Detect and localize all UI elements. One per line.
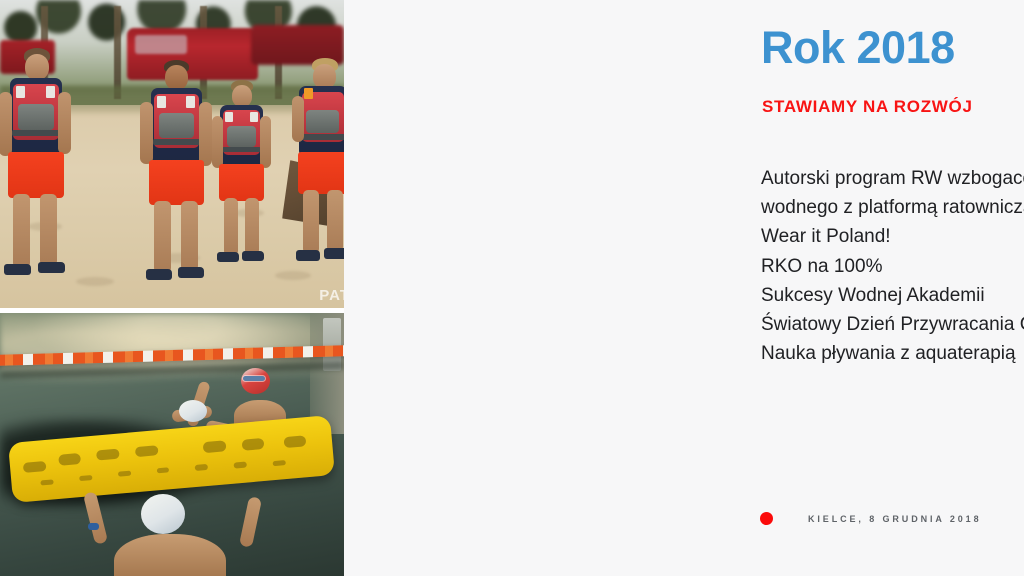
lifeguard-figure [212, 80, 272, 272]
list-item: wodnego z platformą ratowniczą [761, 193, 1024, 222]
sand-texture [76, 277, 114, 286]
wrist-band [88, 523, 99, 530]
list-item: Autorski program RW wzbogacony o asysten… [761, 164, 1024, 193]
content-panel: Rok 2018 STAWIAMY NA ROZWÓJ Autorski pro… [344, 0, 1024, 576]
list-item: Nauka pływania z aquaterapią [761, 339, 1024, 368]
slide-footer: KIELCE, 8 GRUDNIA 2018 [760, 512, 982, 525]
pool-scene [0, 313, 344, 576]
achievements-list: Autorski program RW wzbogacony o asysten… [761, 164, 1024, 368]
photo-watermark: PAT [319, 287, 344, 304]
foreground-head-white-cap [141, 494, 185, 534]
presentation-slide: PAT [0, 0, 1024, 576]
swimmer-head-red-cap [241, 368, 270, 394]
sand-texture [275, 271, 311, 280]
footer-location-date: KIELCE, 8 GRUDNIA 2018 [808, 514, 982, 524]
tree-trunk [114, 6, 121, 98]
foreground-arm-right [239, 496, 262, 548]
photo-lifeguards-beach: PAT [0, 0, 344, 308]
goggles-icon [243, 376, 265, 381]
red-dot-icon [760, 512, 773, 525]
slide-title: Rok 2018 [761, 24, 955, 73]
list-item: Światowy Dzień Przywracania Czynności Se… [761, 310, 1024, 339]
swimmer-head-white-cap [179, 400, 207, 422]
photo-pool-rescue-training [0, 313, 344, 576]
list-item: Wear it Poland! [761, 222, 1024, 251]
lifeguard-figure [0, 48, 74, 293]
lifeguard-figure [292, 58, 344, 270]
list-item: Sukcesy Wodnej Akademii [761, 281, 1024, 310]
lifeguard-figure [140, 60, 214, 292]
list-item: RKO na 100% [761, 252, 1024, 281]
photo-column: PAT [0, 0, 344, 576]
slide-subtitle: STAWIAMY NA ROZWÓJ [762, 97, 973, 117]
beach-scene: PAT [0, 0, 344, 308]
foreground-swimmer-back [114, 534, 226, 576]
